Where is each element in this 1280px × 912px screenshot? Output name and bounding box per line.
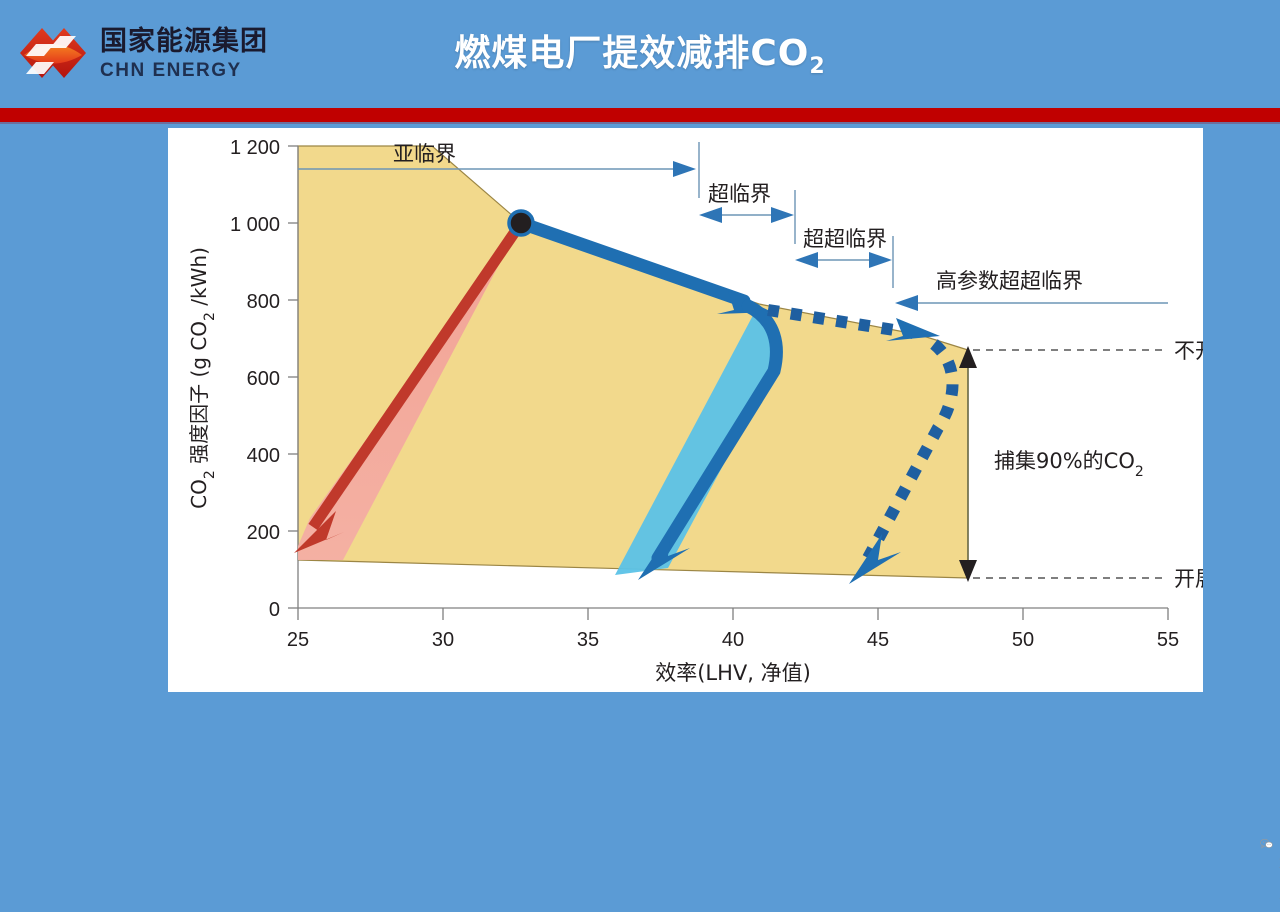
range-marker-ultra-supercritical: 超超临界 [795,227,893,288]
callout-with-ccs: 开展CCS [973,567,1203,591]
page-title: 燃煤电厂提效减排CO2 [0,24,1280,79]
range-label-ultra-supercritical: 超超临界 [803,227,887,251]
y-tick-label: 200 [247,522,280,544]
y-tick-label: 600 [247,368,280,390]
range-label-advanced-usc: 高参数超超临界 [936,269,1083,293]
x-tick-label: 35 [577,629,599,651]
x-axis-ticks [298,608,1168,620]
capture-text: 捕集90%的CO [994,449,1135,473]
callout-label-capture: 捕集90%的CO2 [994,449,1144,480]
y-tick-label: 0 [269,599,280,621]
y-tick-label: 800 [247,291,280,313]
callout-label-no-ccs: 不开展CCS [1174,339,1203,363]
capture-subscript: 2 [1135,464,1144,480]
plot-area: 1 200 1 000 800 600 400 200 0 25 30 35 4… [187,137,1203,685]
watermark: 电力科技 [1260,776,1280,912]
range-marker-advanced-usc: 高参数超超临界 [895,269,1168,311]
y-axis-ticks [288,146,298,608]
capture-span-arrow: 捕集90%的CO2 [959,346,1144,582]
x-tick-label: 45 [867,629,889,651]
x-tick-label: 50 [1012,629,1034,651]
x-tick-labels: 25 30 35 40 45 50 55 [287,629,1179,651]
header-purple-divider [0,122,1280,124]
page-title-main: 燃煤电厂提效减排CO [454,33,809,74]
callout-label-with-ccs: 开展CCS [1174,567,1203,591]
baseline-marker-dot [509,211,533,235]
emission-band-area [298,146,968,578]
slide-header: 国家能源集团 CHN ENERGY 燃煤电厂提效减排CO2 [0,0,1280,108]
x-axis-title: 效率(LHV, 净值) [655,661,811,685]
y-tick-label: 400 [247,445,280,467]
range-label-subcritical: 亚临界 [393,142,456,166]
chart-panel: 1 200 1 000 800 600 400 200 0 25 30 35 4… [168,128,1203,692]
y-tick-labels: 1 200 1 000 800 600 400 200 0 [230,137,280,621]
range-marker-supercritical: 超临界 [699,182,795,244]
x-tick-label: 30 [432,629,454,651]
y-tick-label: 1 200 [230,137,280,159]
page-title-subscript: 2 [809,54,825,79]
y-axis-title: CO2 强度因子 (g CO2 /kWh) [187,247,218,509]
y-tick-label: 1 000 [230,214,280,236]
x-tick-label: 25 [287,629,309,651]
co2-intensity-efficiency-chart: 1 200 1 000 800 600 400 200 0 25 30 35 4… [168,128,1203,692]
header-red-divider [0,108,1280,122]
wechat-icon [1260,831,1273,857]
x-tick-label: 55 [1157,629,1179,651]
y-axis-title-group: CO2 强度因子 (g CO2 /kWh) [187,247,218,509]
range-label-supercritical: 超临界 [708,182,771,206]
x-tick-label: 40 [722,629,744,651]
callout-no-ccs: 不开展CCS [973,339,1203,363]
